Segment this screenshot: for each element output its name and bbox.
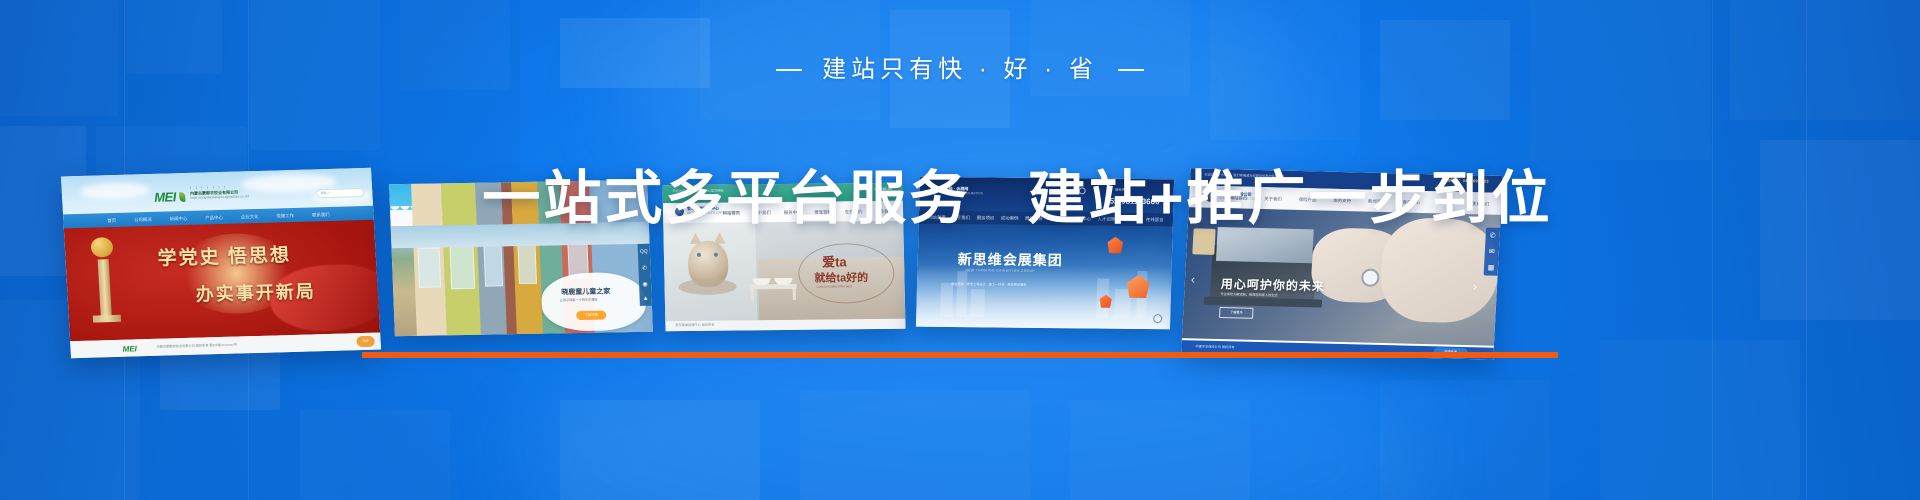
- headline-underline-accent: [362, 352, 1559, 358]
- banner-headline-label: 一站式多平台服务 建站+推广一步到位: [482, 166, 1552, 231]
- banner-headline: 一站式多平台服务 建站+推广一步到位: [368, 108, 1553, 352]
- banner-subtitle: 建站只有快 · 好 · 省: [0, 58, 1920, 82]
- banner-text-block: 建站只有快 · 好 · 省 一站式多平台服务 建站+推广一步到位: [0, 0, 1920, 352]
- subtitle-label: 建站只有快 · 好 · 省: [822, 58, 1098, 82]
- subtitle-dash-right: [1118, 69, 1144, 71]
- subtitle-dash-left: [776, 69, 802, 71]
